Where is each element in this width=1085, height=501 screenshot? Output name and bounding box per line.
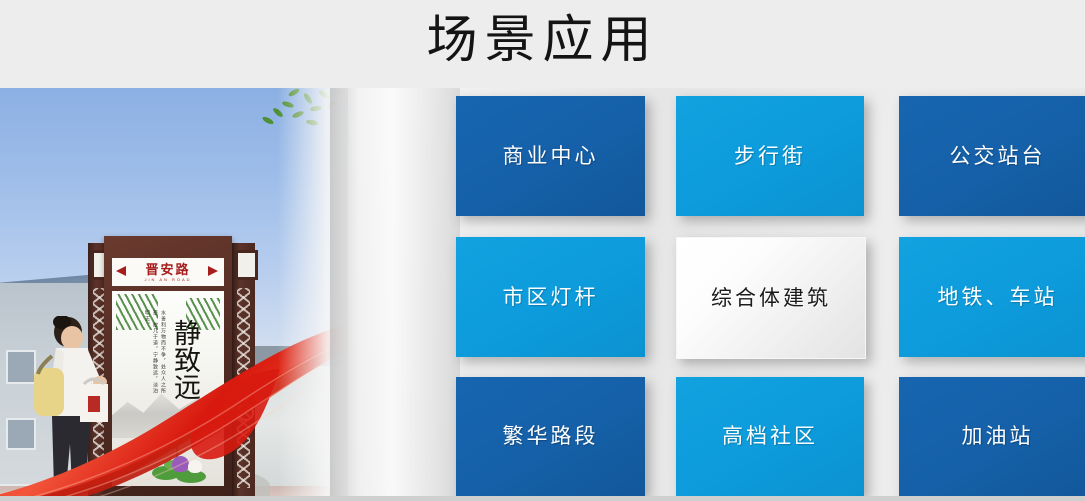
- tile-busy-road[interactable]: 繁华路段: [456, 377, 645, 496]
- tile-label: 加油站: [962, 426, 1034, 447]
- footer-strip: [0, 496, 1085, 501]
- tile-label: 综合体建筑: [711, 288, 831, 309]
- tile-complex-building[interactable]: 综合体建筑: [676, 237, 866, 359]
- scene-tile-grid: 商业中心 步行街 公交站台 市区灯杆 综合体建筑 地铁、车站 繁华路段: [456, 95, 1085, 495]
- tile-label: 繁华路段: [503, 426, 599, 447]
- scene-application-slide: 场景应用: [0, 0, 1085, 501]
- tile-label: 市区灯杆: [503, 287, 599, 308]
- road-name-en: JIN AN ROAD: [144, 278, 191, 282]
- lotus-illustration: [150, 440, 208, 484]
- street-landmark-photo: 晋安路 JIN AN ROAD 静致远 水善利万物而不争，处众人之所恶，故几于道…: [0, 88, 348, 496]
- tile-label: 公交站台: [950, 146, 1046, 167]
- page-title: 场景应用: [426, 16, 658, 67]
- tile-city-lamp-pole[interactable]: 市区灯杆: [456, 237, 645, 357]
- tile-bus-stop[interactable]: 公交站台: [899, 96, 1085, 216]
- tile-upscale-community[interactable]: 高档社区: [676, 377, 864, 496]
- medallion-ornament-right: [237, 404, 254, 421]
- tile-label: 地铁、车站: [938, 287, 1058, 308]
- tile-gas-station[interactable]: 加油站: [899, 377, 1085, 496]
- tile-pedestrian-street[interactable]: 步行街: [676, 96, 864, 216]
- tile-label: 步行街: [734, 146, 806, 167]
- tile-subway-station[interactable]: 地铁、车站: [899, 237, 1085, 357]
- pedestrian-figure: [22, 316, 142, 496]
- photo-edge-haze: [278, 88, 348, 496]
- tile-commercial-center[interactable]: 商业中心: [456, 96, 645, 216]
- tile-label: 高档社区: [722, 426, 818, 447]
- road-name-cn: 晋安路: [145, 263, 190, 276]
- content-band: 晋安路 JIN AN ROAD 静致远 水善利万物而不争，处众人之所恶，故几于道…: [0, 88, 1085, 496]
- tile-label: 商业中心: [503, 146, 599, 167]
- arrow-east-icon: [208, 266, 218, 276]
- page-header: 场景应用: [0, 0, 1085, 88]
- red-seal-stamp: [178, 418, 187, 429]
- background-curtain-shading: [330, 88, 460, 496]
- calligraphy-text: 静致远: [168, 304, 202, 414]
- lattice-pattern-right: [237, 288, 250, 488]
- arrow-west-icon: [116, 266, 126, 276]
- post-lantern-right: [235, 250, 258, 280]
